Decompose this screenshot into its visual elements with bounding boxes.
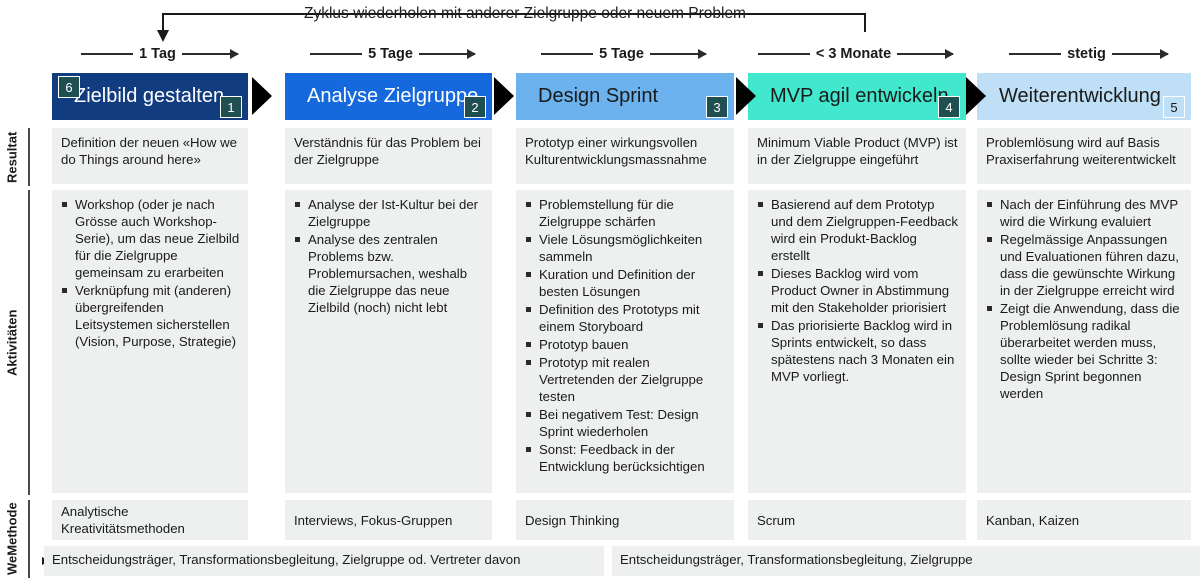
activity-item: Definition des Prototyps mit einem Story… [525,301,726,335]
activity-item: Workshop (oder je nach Grösse auch Works… [61,196,240,281]
step-number-badge-6: 6 [58,76,80,98]
row-label-aktivitaeten: Aktivitäten [0,190,24,495]
chevron-right-icon-2 [494,77,514,115]
activity-item: Nach der Einführung des MVP wird die Wir… [986,196,1183,230]
duration-arrow-right [1112,53,1168,55]
phase-header-5[interactable]: Weiterentwicklung [977,73,1191,120]
duration-line-left [1009,53,1061,55]
wemethode-cell-4: Scrum [748,500,966,540]
aktivitaeten-cell-3: Problemstellung für die Zielgruppe schär… [516,190,734,493]
duration-label: 5 Tage [368,46,413,62]
duration-cell-3: 5 Tage [516,42,731,66]
loop-label: Zyklus wiederholen mit anderer Zielgrupp… [295,4,755,24]
duration-cell-4: < 3 Monate [748,42,963,66]
duration-arrow-right [897,53,953,55]
activity-item: Analyse des zentralen Problems bzw. Prob… [294,231,484,316]
duration-arrow-right [650,53,706,55]
activity-item: Dieses Backlog wird vom Product Owner in… [757,265,958,316]
aktivitaeten-cell-4: Basierend auf dem Prototyp und dem Zielg… [748,190,966,493]
aktivitaeten-cell-2: Analyse der Ist-Kultur bei der Zielgrupp… [285,190,492,493]
activity-item: Basierend auf dem Prototyp und dem Zielg… [757,196,958,264]
activity-item: Analyse der Ist-Kultur bei der Zielgrupp… [294,196,484,230]
duration-label: 1 Tag [139,46,176,62]
duration-line-left [541,53,593,55]
activity-item: Kuration und Definition der besten Lösun… [525,266,726,300]
resultat-cell-2: Verständnis für das Problem bei der Ziel… [285,128,492,184]
resultat-cell-4: Minimum Viable Product (MVP) ist in der … [748,128,966,184]
wemethode-cell-1: Analytische Kreativitätsmethoden [52,500,248,540]
step-number-badge-5: 5 [1163,96,1185,118]
phase-header-4[interactable]: MVP agil entwickeln [748,73,966,120]
duration-line-left [758,53,810,55]
duration-label: 5 Tage [599,46,644,62]
wemethode-cell-3: Design Thinking [516,500,734,540]
duration-cell-5: stetig [977,42,1200,66]
phase-header-1[interactable]: Zielbild gestalten [52,73,248,120]
chevron-right-icon-4 [966,77,986,115]
roles-bar-2: Entscheidungsträger, Transformationsbegl… [612,546,1200,576]
row-label-wemethode: WeMethode [0,500,24,578]
duration-label: < 3 Monate [816,46,891,62]
activity-item: Regelmässige Anpassungen und Evaluatione… [986,231,1183,299]
roles-bar-1: Entscheidungsträger, Transformationsbegl… [44,546,604,576]
activity-item: Sonst: Feedback in der Entwicklung berüc… [525,441,726,475]
duration-label: stetig [1067,46,1106,62]
phase-header-2[interactable]: Analyse Zielgruppe [285,73,492,120]
activity-item: Prototyp bauen [525,336,726,353]
row-rule-resultat [28,128,30,186]
duration-arrow-right [419,53,475,55]
row-rule-wemethode [28,500,30,578]
wemethode-cell-2: Interviews, Fokus-Gruppen [285,500,492,540]
aktivitaeten-cell-1: Workshop (oder je nach Grösse auch Works… [52,190,248,493]
duration-line-left [310,53,362,55]
phase-title: Analyse Zielgruppe [285,85,478,108]
activity-item: Problemstellung für die Zielgruppe schär… [525,196,726,230]
chevron-right-icon-3 [736,77,756,115]
activity-item: Das priorisierte Backlog wird in Sprints… [757,317,958,385]
process-diagram: Zyklus wiederholen mit anderer Zielgrupp… [0,0,1200,581]
duration-line-left [81,53,133,55]
row-rule-aktivitaeten [28,190,30,495]
step-number-badge-1: 1 [220,96,242,118]
aktivitaeten-cell-5: Nach der Einführung des MVP wird die Wir… [977,190,1191,493]
activity-item: Zeigt die Anwendung, dass die Problemlös… [986,300,1183,402]
row-label-resultat: Resultat [0,128,24,186]
duration-arrow-right [182,53,238,55]
duration-row: 1 Tag5 Tage5 Tage< 3 Monatestetig [0,42,1200,66]
duration-cell-1: 1 Tag [52,42,267,66]
phase-header-3[interactable]: Design Sprint [516,73,734,120]
step-number-badge-4: 4 [938,96,960,118]
resultat-cell-3: Prototyp einer wirkungsvollen Kulturentw… [516,128,734,184]
duration-cell-2: 5 Tage [285,42,500,66]
resultat-cell-1: Definition der neuen «How we do Things a… [52,128,248,184]
activity-item: Prototyp mit realen Vertretenden der Zie… [525,354,726,405]
wemethode-cell-5: Kanban, Kaizen [977,500,1191,540]
phase-title: MVP agil entwickeln [748,85,949,108]
activity-item: Verknüpfung mit (anderen) übergreifenden… [61,282,240,350]
step-number-badge-3: 3 [706,96,728,118]
phase-title: Design Sprint [516,85,658,108]
step-number-badge-2: 2 [464,96,486,118]
phase-title: Weiterentwicklung [977,85,1161,108]
resultat-cell-5: Problemlösung wird auf Basis Praxiserfah… [977,128,1191,184]
chevron-right-icon-1 [252,77,272,115]
activity-item: Bei negativem Test: Design Sprint wieder… [525,406,726,440]
activity-item: Viele Lösungsmöglichkeiten sammeln [525,231,726,265]
